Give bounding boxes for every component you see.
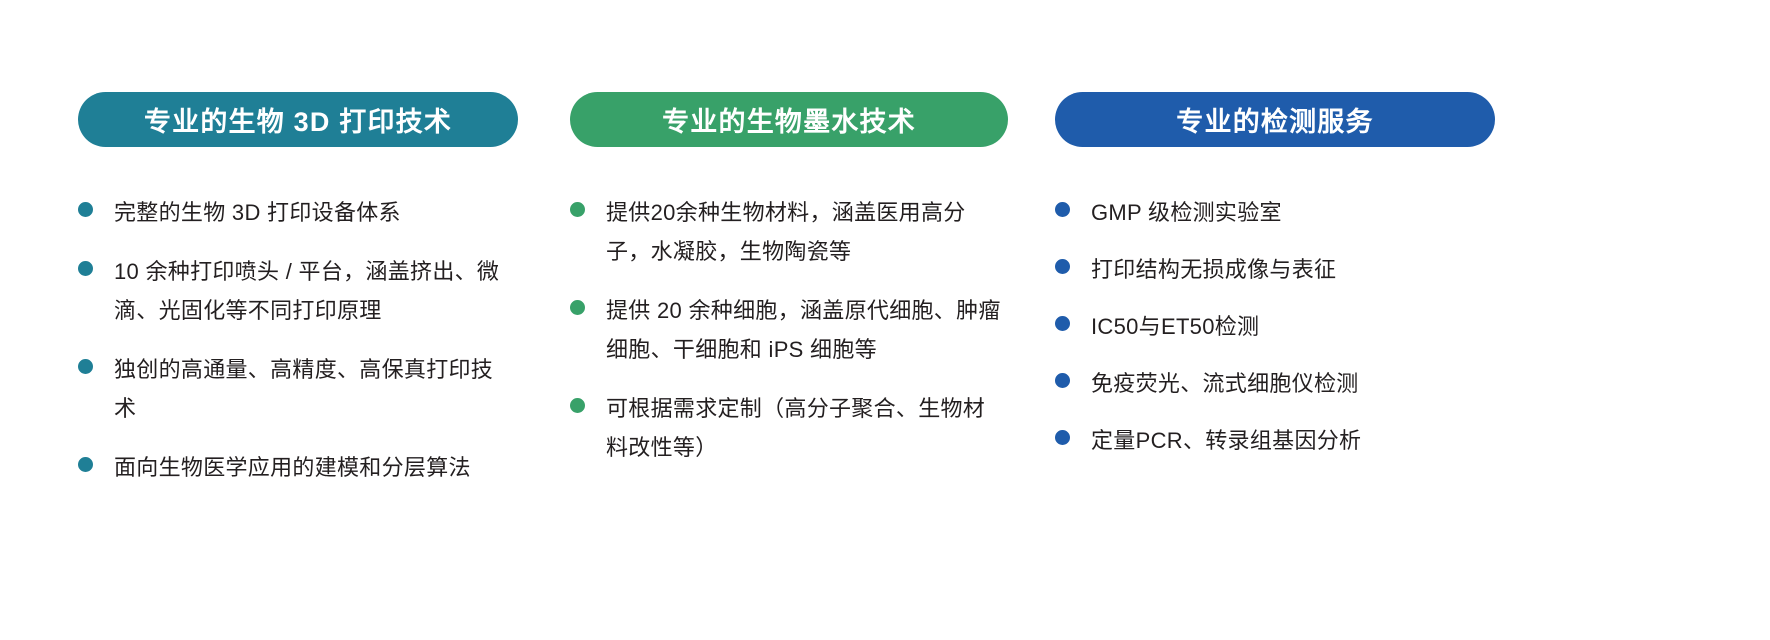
columns-container: 专业的生物 3D 打印技术 完整的生物 3D 打印设备体系 10 余种打印喷头 … — [0, 0, 1770, 507]
list-item: 定量PCR、转录组基因分析 — [1055, 421, 1555, 460]
list-item: 独创的高通量、高精度、高保真打印技术 — [78, 350, 570, 428]
bullet-dot-icon — [570, 202, 585, 217]
bullet-text: 定量PCR、转录组基因分析 — [1091, 421, 1501, 460]
bullet-dot-icon — [78, 359, 93, 374]
list-item: 免疫荧光、流式细胞仪检测 — [1055, 364, 1555, 403]
bullet-list-testing-service: GMP 级检测实验室 打印结构无损成像与表征 IC50与ET50检测 免疫荧光、… — [1055, 193, 1555, 460]
bullet-dot-icon — [78, 457, 93, 472]
list-item: 10 余种打印喷头 / 平台，涵盖挤出、微滴、光固化等不同打印原理 — [78, 252, 570, 330]
list-item: 提供 20 余种细胞，涵盖原代细胞、肿瘤细胞、干细胞和 iPS 细胞等 — [570, 291, 1055, 369]
bullet-dot-icon — [1055, 430, 1070, 445]
list-item: 面向生物医学应用的建模和分层算法 — [78, 448, 570, 487]
bullet-dot-icon — [78, 261, 93, 276]
bullet-dot-icon — [1055, 373, 1070, 388]
bullet-text: IC50与ET50检测 — [1091, 307, 1501, 346]
column-header-testing-service: 专业的检测服务 — [1055, 92, 1495, 147]
list-item: 打印结构无损成像与表征 — [1055, 250, 1555, 289]
bullet-text: 提供 20 余种细胞，涵盖原代细胞、肿瘤细胞、干细胞和 iPS 细胞等 — [606, 291, 1006, 369]
bullet-text: 完整的生物 3D 打印设备体系 — [114, 193, 514, 232]
bullet-text: 打印结构无损成像与表征 — [1091, 250, 1501, 289]
bullet-dot-icon — [1055, 259, 1070, 274]
bullet-dot-icon — [1055, 316, 1070, 331]
column-header-bio-3d-printing: 专业的生物 3D 打印技术 — [78, 92, 518, 147]
list-item: 完整的生物 3D 打印设备体系 — [78, 193, 570, 232]
list-item: 提供20余种生物材料，涵盖医用高分子，水凝胶，生物陶瓷等 — [570, 193, 1055, 271]
bullet-dot-icon — [570, 300, 585, 315]
bullet-text: 可根据需求定制（高分子聚合、生物材料改性等） — [606, 389, 1006, 467]
list-item: GMP 级检测实验室 — [1055, 193, 1555, 232]
bullet-text: 独创的高通量、高精度、高保真打印技术 — [114, 350, 514, 428]
bullet-dot-icon — [570, 398, 585, 413]
bullet-text: 免疫荧光、流式细胞仪检测 — [1091, 364, 1501, 403]
bullet-list-bio-3d-printing: 完整的生物 3D 打印设备体系 10 余种打印喷头 / 平台，涵盖挤出、微滴、光… — [78, 193, 570, 487]
bullet-text: GMP 级检测实验室 — [1091, 193, 1501, 232]
bullet-dot-icon — [1055, 202, 1070, 217]
list-item: IC50与ET50检测 — [1055, 307, 1555, 346]
list-item: 可根据需求定制（高分子聚合、生物材料改性等） — [570, 389, 1055, 467]
column-bio-ink: 专业的生物墨水技术 提供20余种生物材料，涵盖医用高分子，水凝胶，生物陶瓷等 提… — [570, 92, 1055, 487]
bullet-text: 提供20余种生物材料，涵盖医用高分子，水凝胶，生物陶瓷等 — [606, 193, 1006, 271]
bullet-text: 10 余种打印喷头 / 平台，涵盖挤出、微滴、光固化等不同打印原理 — [114, 252, 514, 330]
bullet-dot-icon — [78, 202, 93, 217]
feature-columns-board: 专业的生物 3D 打印技术 完整的生物 3D 打印设备体系 10 余种打印喷头 … — [0, 0, 1770, 640]
column-header-bio-ink: 专业的生物墨水技术 — [570, 92, 1008, 147]
column-testing-service: 专业的检测服务 GMP 级检测实验室 打印结构无损成像与表征 IC50与ET50… — [1055, 92, 1555, 478]
bullet-list-bio-ink: 提供20余种生物材料，涵盖医用高分子，水凝胶，生物陶瓷等 提供 20 余种细胞，… — [570, 193, 1055, 467]
bullet-text: 面向生物医学应用的建模和分层算法 — [114, 448, 514, 487]
column-bio-3d-printing: 专业的生物 3D 打印技术 完整的生物 3D 打印设备体系 10 余种打印喷头 … — [78, 92, 570, 507]
